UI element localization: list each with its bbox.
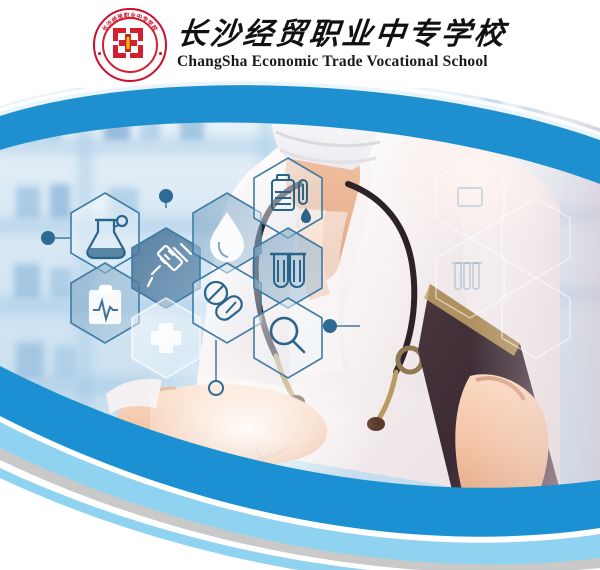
connector-node-right: [323, 319, 337, 333]
hexagon-medical-cross[interactable]: [132, 298, 200, 378]
school-banner: 长沙经贸职业中专学校: [0, 0, 600, 570]
crest-pinwheel-glyph: [109, 24, 147, 62]
connector-node-bottom: [209, 381, 223, 395]
hexagon-test-tubes[interactable]: [254, 228, 322, 308]
hexagon-flask[interactable]: [71, 193, 139, 273]
hexagon-magnifier[interactable]: [254, 298, 337, 378]
hero-photo: [0, 88, 600, 490]
crest-star-left: [98, 52, 101, 55]
connector-node-top: [159, 189, 173, 203]
hexagon-iv-bag[interactable]: [254, 158, 322, 238]
hexagon-hud: [0, 88, 600, 490]
crest-star-right: [159, 52, 162, 55]
school-name-en: ChangSha Economic Trade Vocational Schoo…: [177, 53, 488, 71]
banner-header: 长沙经贸职业中专学校: [0, 0, 600, 90]
flask-liquid: [88, 248, 124, 258]
school-crest-logo: 长沙经贸职业中专学校: [93, 8, 167, 82]
header-titles: 长沙经贸职业中专学校 ChangSha Economic Trade Vocat…: [177, 19, 507, 71]
hexagon-pills[interactable]: [193, 263, 261, 395]
ghost-hexagons: [436, 158, 570, 358]
bottom-white-fill: [0, 520, 600, 570]
connector-node-left: [41, 231, 55, 245]
hexagon-patient-chart[interactable]: [71, 263, 139, 343]
hexagon-blood-drop[interactable]: [193, 193, 261, 273]
ghost-hexagon-icons: [452, 188, 482, 289]
school-name-cn: 长沙经贸职业中专学校: [175, 19, 508, 51]
